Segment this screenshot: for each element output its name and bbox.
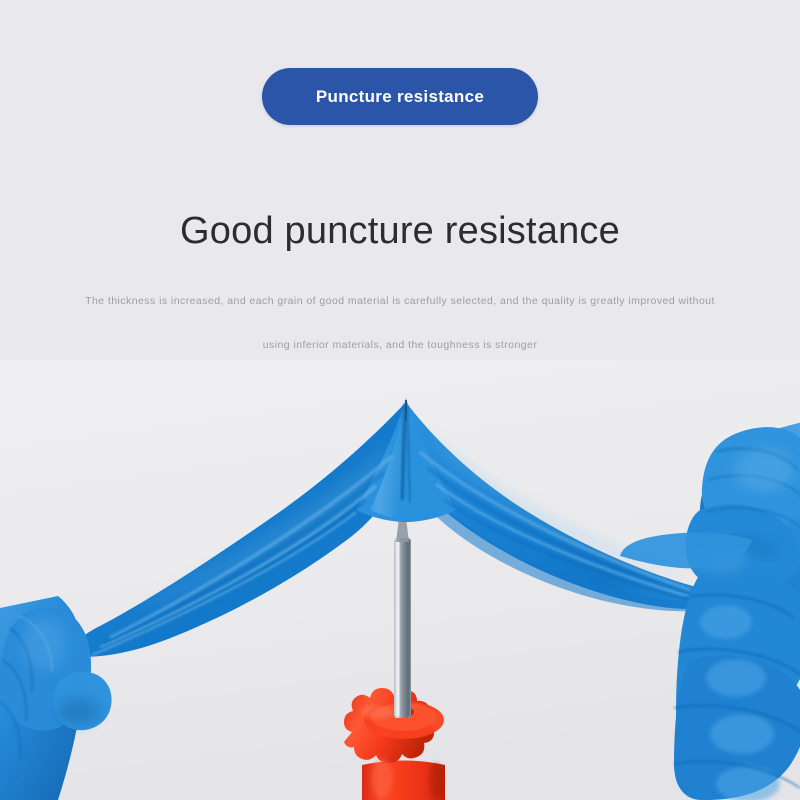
- description-line-1: The thickness is increased, and each gra…: [0, 279, 800, 323]
- product-photo: [0, 360, 800, 800]
- badge-row: Puncture resistance: [0, 68, 800, 125]
- product-feature-page: Puncture resistance Good puncture resist…: [0, 0, 800, 800]
- page-title: Good puncture resistance: [0, 207, 800, 255]
- product-photo-illustration: [0, 360, 800, 800]
- description-text: The thickness is increased, and each gra…: [0, 279, 800, 367]
- feature-badge: Puncture resistance: [262, 68, 538, 125]
